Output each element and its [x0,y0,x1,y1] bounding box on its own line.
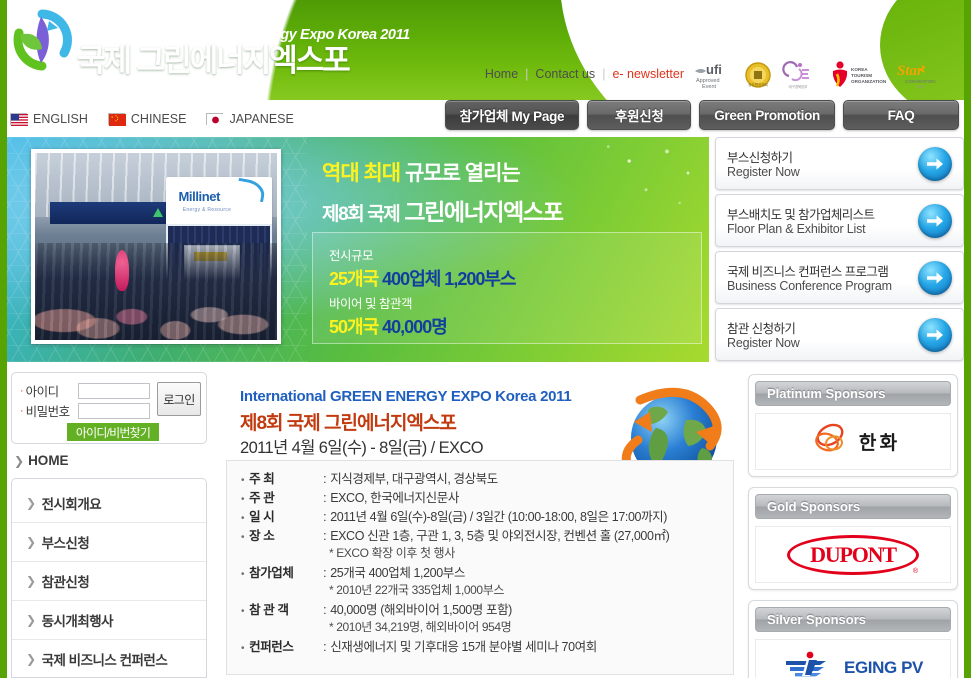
info-key: 장 소 [249,525,323,544]
info-note: * 2010년 34,219명, 해외바이어 954명 [227,618,733,636]
info-value: 신재생에너지 및 기후대응 15개 분야별 세미나 70여회 [330,636,597,655]
hero-headline-small: 제8회 국제 [322,204,399,225]
svg-text:CONVENTION: CONVENTION [905,79,936,84]
svg-text:2011: 2011 [917,85,924,89]
registered-mark-icon: ® [913,568,918,575]
login-box: · 아이디 · 비밀번호 로그인 아이디/비번찾기 [11,372,207,444]
bullet-icon: • [241,475,244,486]
info-note: * EXCO 확장 이후 첫 행사 [227,544,733,562]
bullet-icon: • [241,513,244,524]
svg-text:대구경북본부: 대구경북본부 [789,84,808,89]
photo-booth-brand-sub: Energy & Resource [183,207,231,213]
info-value: 2011년 4월 6일(수)-8일(금) / 3일간 (10:00-18:00,… [330,506,667,525]
site-header: 제8회 International Green Energy Expo Kore… [0,0,971,100]
nav-button-sponsorship[interactable]: 후원신청 [587,100,691,130]
hero-stat-people: 40,000명 [378,317,447,337]
eging-pv-logo-text: EGING PV [844,658,923,678]
info-value: EXCO, 한국에너지신문사 [330,487,459,506]
quick-link-label-en: Register Now [727,165,800,179]
login-password-input[interactable] [78,403,150,419]
quick-link-label-kr: 부스배치도 및 참가업체리스트 [727,204,874,223]
ufi-approved-event-logo: ufi Approved Event [693,58,735,92]
quick-link-label-en: Business Conference Program [727,279,892,293]
main-nav-buttons: 참가업체 My Page 후원신청 Green Promotion FAQ [445,100,959,130]
chevron-right-icon: ❯ [14,454,24,468]
bullet-icon: • [241,532,244,543]
hero-stat-label: 바이어 및 참관객 [329,293,447,312]
chevron-right-icon: ❯ [26,496,36,510]
hero-stat-booths: 400업체 1,200부스 [378,269,515,289]
svg-text:Event: Event [702,84,717,90]
hero-stat-exhibition: 전시규모 25개국 400업체 1,200부스 [329,245,515,291]
kotra-logo: 대구경북본부 [781,58,815,92]
info-value: 40,000명 (해외바이어 1,500명 포함) [330,599,512,618]
svg-text:공무원공제회: 공무원공제회 [748,82,768,87]
arrow-right-icon [918,147,952,181]
find-id-password-button[interactable]: 아이디/비번찾기 [67,423,159,441]
quick-link-booth-register[interactable]: 부스신청하기 Register Now [715,137,964,190]
jp-flag-icon [206,113,223,125]
login-submit-button[interactable]: 로그인 [157,382,201,416]
logo-tagline: 태양광 · 풍력 · 신재생 [82,77,183,93]
quick-link-floor-plan[interactable]: 부스배치도 및 참가업체리스트 Floor Plan & Exhibitor L… [715,194,964,247]
sponsor-header-gold: Gold Sponsors [755,494,951,519]
korea-tourism-organization-logo: KOREA TOURISM ORGANIZATION [824,58,886,92]
info-row: • 장 소 : EXCO 신관 1층, 구관 1, 3, 5층 및 야외전시장,… [227,525,733,544]
login-pw-row: · 비밀번호 [20,401,150,420]
sponsor-logo-area[interactable]: DUPONT ® [755,526,951,583]
right-green-rail [964,0,971,678]
svg-text:KOREA: KOREA [851,67,868,72]
nav-button-my-page[interactable]: 참가업체 My Page [445,100,580,130]
bullet-icon: • [241,643,244,654]
hanwha-logo-text: 한 화 [859,428,896,455]
hero-stats-box: 전시규모 25개국 400업체 1,200부스 바이어 및 참관객 50개국 4… [312,232,702,344]
sidebar-item-concurrent-events[interactable]: ❯ 동시개최행사 [12,601,206,640]
dupont-logo: DUPONT ® [787,535,919,575]
arrow-right-icon [918,261,952,295]
info-colon: : [323,566,326,580]
sponsor-header-platinum: Platinum Sponsors [755,381,951,406]
quick-link-panel: 부스신청하기 Register Now 부스배치도 및 참가업체리스트 Floo… [715,137,964,362]
quick-link-label-kr: 부스신청하기 [727,147,792,166]
hero-stat-label: 전시규모 [329,245,515,264]
svg-text:ufi: ufi [706,62,722,77]
event-info-box: • 주 최 : 지식경제부, 대구광역시, 경상북도 • 주 관 : EXCO,… [226,460,734,675]
sidebar-menu: ❯ 전시회개요 ❯ 부스신청 ❯ 참관신청 ❯ 동시개최행사 ❯ 국제 비즈니스… [11,478,207,678]
sidebar-item-visitor-application[interactable]: ❯ 참관신청 [12,562,206,601]
topnav-separator: | [602,67,605,81]
info-colon: : [323,491,326,505]
hero-banner[interactable]: HY Millinet Energy & Resource 역대 최대 규모로 … [7,137,709,362]
arrow-right-icon [918,318,952,352]
chevron-right-icon: ❯ [26,535,36,549]
topnav-link-contact-us[interactable]: Contact us [535,67,595,81]
quick-link-business-conference[interactable]: 국제 비즈니스 컨퍼런스 프로그램 Business Conference Pr… [715,251,964,304]
language-option-english[interactable]: ENGLISH [10,112,88,126]
login-id-input[interactable] [78,383,150,399]
expo-logo-icon[interactable] [11,9,73,71]
login-pw-label: 비밀번호 [26,401,78,420]
hero-headline-big: 그린에너지엑스포 [404,199,562,225]
info-row: • 참 관 객 : 40,000명 (해외바이어 1,500명 포함) [227,599,733,618]
us-flag-icon [10,113,27,125]
top-utility-nav: Home | Contact us | e- newsletter [485,67,684,81]
info-note: * 2010년 22개국 335업체 1,000부스 [227,581,733,599]
sponsor-logo-area[interactable]: 한 화 [755,413,951,470]
hero-exhibition-photo: HY Millinet Energy & Resource [31,149,281,344]
info-colon: : [323,603,326,617]
sponsor-logo-area[interactable]: EGING PV [755,639,951,678]
cn-flag-icon [108,113,125,125]
info-row: • 일 시 : 2011년 4월 6일(수)-8일(금) / 3일간 (10:0… [227,506,733,525]
language-label-english: ENGLISH [33,112,88,126]
chevron-right-icon: ❯ [26,613,36,627]
logo-korean-title: 국제 그린에너지엑스포 [77,35,349,80]
dupont-logo-text: DUPONT [810,542,896,568]
sidebar-home-label: HOME [28,453,69,468]
language-label-japanese: JAPANESE [229,112,293,126]
sidebar-item-booth-application[interactable]: ❯ 부스신청 [12,523,206,562]
info-key: 참가업체 [249,562,323,581]
content-title-date: 2011년 4월 6일(수) - 8일(금) / EXCO [240,434,483,458]
info-row: • 주 최 : 지식경제부, 대구광역시, 경상북도 [227,468,733,487]
hanwha-logo [810,419,852,464]
info-colon: : [323,529,326,543]
info-colon: : [323,472,326,486]
hero-stat-visitors: 바이어 및 참관객 50개국 40,000명 [329,293,447,339]
gold-seal-logo: 공무원공제회 [744,58,772,92]
hero-headline-rest: 규모로 열리는 [400,162,520,185]
star-convention-logo: Star CONVENTION 2011 [895,58,939,92]
quick-link-label-kr: 참관 신청하기 [727,318,795,337]
language-selector: ENGLISH CHINESE [10,112,294,126]
login-id-label: 아이디 [26,381,78,400]
info-row: • 주 관 : EXCO, 한국에너지신문사 [227,487,733,506]
info-key: 컨퍼런스 [249,636,323,655]
info-key: 참 관 객 [249,599,323,618]
left-green-rail [0,0,7,678]
hero-headline-highlight: 역대 최대 [322,162,400,185]
chevron-right-icon: ❯ [26,574,36,588]
info-key: 주 관 [249,487,323,506]
sidebar-home-link[interactable]: ❯ HOME [14,453,69,468]
info-colon: : [323,640,326,654]
info-key: 일 시 [249,506,323,525]
required-dot-icon: · [20,385,24,397]
sidebar-item-label: 국제 비즈니스 컨퍼런스 [42,649,168,669]
topnav-link-home[interactable]: Home [485,67,518,81]
svg-text:Star: Star [897,63,923,79]
sidebar-item-label: 전시회개요 [42,493,102,513]
hero-stat-countries: 50개국 [329,317,378,337]
sponsors-panel: Platinum Sponsors 한 화 Gold Sponsors DUPO… [748,374,958,678]
content-title-korean: 제8회 국제 그린에너지엑스포 [240,408,456,435]
bullet-icon: • [241,606,244,617]
bullet-icon: • [241,569,244,580]
info-value: EXCO 신관 1층, 구관 1, 3, 5층 및 야외전시장, 컨벤션 홀 (… [330,525,669,544]
bullet-icon: • [241,494,244,505]
eging-pv-logo [783,650,837,678]
sponsor-card-gold: Gold Sponsors DUPONT ® [748,487,958,590]
login-id-row: · 아이디 [20,381,150,400]
language-label-chinese: CHINESE [131,112,187,126]
info-colon: : [323,510,326,524]
hero-text-panel: 역대 최대 규모로 열리는 제8회 국제 그린에너지엑스포 전시규모 25개국 … [304,137,709,362]
hero-stat-countries: 25개국 [329,269,378,289]
page-root: 제8회 International Green Energy Expo Kore… [0,0,971,678]
topnav-separator: | [525,67,528,81]
hero-headline: 역대 최대 규모로 열리는 제8회 국제 그린에너지엑스포 [322,157,562,227]
svg-text:ORGANIZATION: ORGANIZATION [851,79,886,84]
content-title-english: International GREEN ENERGY EXPO Korea 20… [240,388,571,405]
quick-link-label-en: Floor Plan & Exhibitor List [727,222,865,236]
sidebar-item-label: 부스신청 [42,532,90,552]
language-option-japanese[interactable]: JAPANESE [206,112,293,126]
sidebar-item-overview[interactable]: ❯ 전시회개요 [12,484,206,523]
sponsor-card-platinum: Platinum Sponsors 한 화 [748,374,958,477]
partner-logo-strip: ufi Approved Event 공무원공제회 [693,57,939,93]
info-value: 25개국 400업체 1,200부스 [330,562,465,581]
quick-link-label-kr: 국제 비즈니스 컨퍼런스 프로그램 [727,261,888,280]
topnav-link-e-newsletter[interactable]: e- newsletter [612,67,684,81]
nav-button-green-promotion[interactable]: Green Promotion [699,100,835,130]
chevron-right-icon: ❯ [26,652,36,666]
sidebar-item-label: 동시개최행사 [42,610,114,630]
info-key: 주 최 [249,468,323,487]
info-value: 지식경제부, 대구광역시, 경상북도 [330,468,498,487]
sponsor-header-silver: Silver Sponsors [755,607,951,632]
language-option-chinese[interactable]: CHINESE [108,112,187,126]
quick-link-label-en: Register Now [727,336,800,350]
nav-button-faq[interactable]: FAQ [843,100,959,130]
svg-text:TOURISM: TOURISM [851,73,872,78]
arrow-right-icon [918,204,952,238]
sponsor-card-silver: Silver Sponsors EGING PV [748,600,958,678]
info-row: • 컨퍼런스 : 신재생에너지 및 기후대응 15개 분야별 세미나 70여회 [227,636,733,655]
required-dot-icon: · [20,405,24,417]
sidebar-item-label: 참관신청 [42,571,90,591]
info-row: • 참가업체 : 25개국 400업체 1,200부스 [227,562,733,581]
quick-link-visitor-register[interactable]: 참관 신청하기 Register Now [715,308,964,361]
photo-booth-brand: Millinet [178,189,220,204]
sidebar-item-business-conference[interactable]: ❯ 국제 비즈니스 컨퍼런스 [12,640,206,678]
main-content: International GREEN ENERGY EXPO Korea 20… [218,382,738,678]
